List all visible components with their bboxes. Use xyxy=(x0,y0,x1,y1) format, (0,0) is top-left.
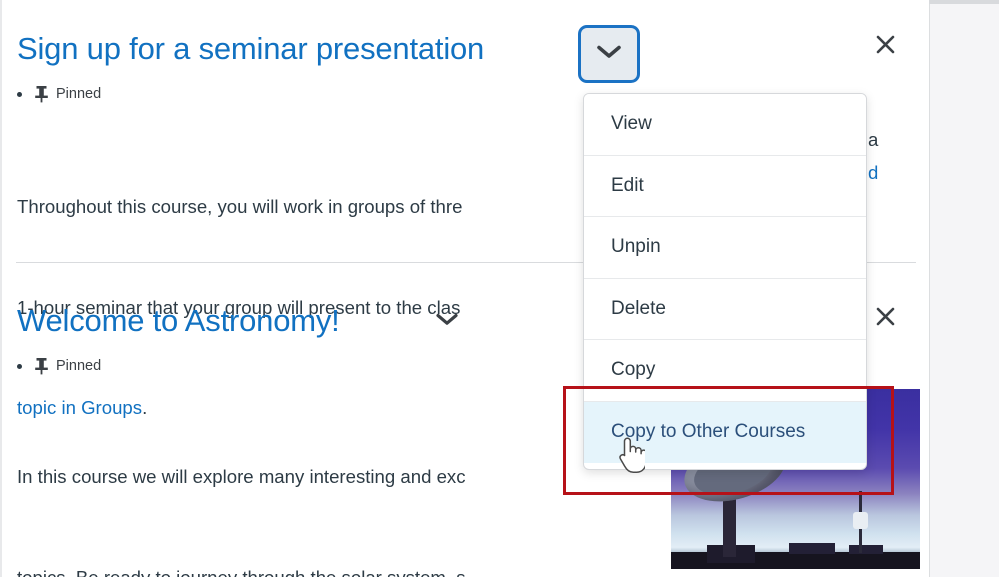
menu-item-copy-to-other-courses[interactable]: Copy to Other Courses xyxy=(584,402,866,464)
menu-item-unpin[interactable]: Unpin xyxy=(584,217,866,279)
chevron-down-icon xyxy=(436,313,458,331)
post-2-body: In this course we will explore many inte… xyxy=(17,393,514,577)
post-1-title[interactable]: Sign up for a seminar presentation xyxy=(17,33,484,64)
close-icon xyxy=(875,306,896,332)
menu-item-label: Unpin xyxy=(611,236,661,258)
post-2-options-chevron-button[interactable] xyxy=(430,307,464,337)
post-2-body-line-2: topics. Be ready to journey through the … xyxy=(17,561,514,577)
post-1-options-chevron-button[interactable] xyxy=(578,25,640,83)
screenshot-root: Sign up for a seminar presentation Pinne… xyxy=(0,0,999,577)
bullet-marker xyxy=(17,364,22,369)
menu-item-label: Copy xyxy=(611,359,655,381)
post-1-meta-row: Pinned xyxy=(17,85,101,103)
chevron-down-icon xyxy=(597,45,621,64)
post-2-meta-row: Pinned xyxy=(17,357,101,375)
menu-item-delete[interactable]: Delete xyxy=(584,279,866,341)
post-1-close-button[interactable] xyxy=(868,30,902,64)
menu-item-label: Copy to Other Courses xyxy=(611,421,805,443)
menu-item-label: View xyxy=(611,113,652,135)
post-options-dropdown-menu[interactable]: View Edit Unpin Delete Copy Copy to Othe… xyxy=(583,93,867,470)
post-1-pinned-label: Pinned xyxy=(56,86,101,102)
close-icon xyxy=(875,34,896,60)
post-2-pinned-label: Pinned xyxy=(56,358,101,374)
post-2-title[interactable]: Welcome to Astronomy! xyxy=(17,305,340,336)
post-1-body-line-1: Throughout this course, you will work in… xyxy=(17,196,462,217)
image-building xyxy=(849,545,883,554)
menu-item-copy[interactable]: Copy xyxy=(584,340,866,402)
post-1-body-tail-2: d xyxy=(868,156,878,190)
post-2-close-button[interactable] xyxy=(868,302,902,336)
pin-icon xyxy=(34,357,49,375)
menu-item-view[interactable]: View xyxy=(584,94,866,156)
image-tower-light xyxy=(853,512,868,529)
post-2-body-line-1: In this course we will explore many inte… xyxy=(17,460,514,494)
image-building xyxy=(789,543,835,554)
page-gutter xyxy=(929,0,999,577)
menu-item-edit[interactable]: Edit xyxy=(584,156,866,218)
bullet-marker xyxy=(17,92,22,97)
menu-item-label: Delete xyxy=(611,298,666,320)
menu-item-label: Edit xyxy=(611,175,644,197)
gutter-top-edge xyxy=(929,0,999,4)
post-1-body-tail-1: a xyxy=(868,123,878,157)
pin-icon xyxy=(34,85,49,103)
left-edge-rule xyxy=(0,0,2,577)
